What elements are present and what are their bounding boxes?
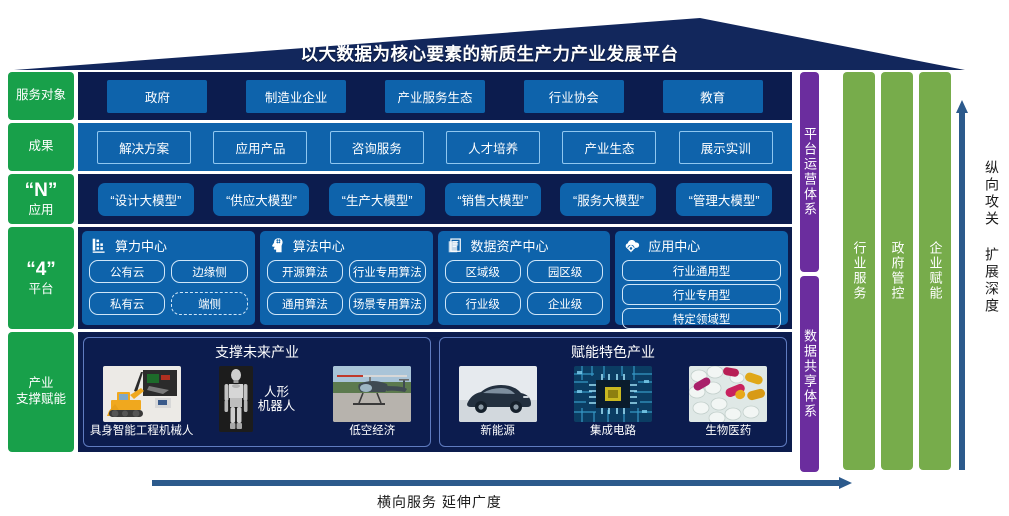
left-label-services[interactable]: 服务对象 bbox=[8, 72, 74, 120]
humanoid-robot-photo-svg bbox=[219, 366, 253, 432]
row-industry: 支撑未来产业 bbox=[78, 332, 792, 452]
industry-item-chip-caption: 集成电路 bbox=[590, 425, 636, 438]
panel-data-asset-center-header: 数据资产中心 bbox=[445, 236, 604, 255]
helicopter-photo-svg bbox=[333, 366, 411, 422]
chip-device-side[interactable]: 端侧 bbox=[171, 292, 247, 315]
result-item-solution[interactable]: 解决方案 bbox=[97, 131, 191, 164]
brain-gear-icon bbox=[269, 237, 286, 254]
app-item-supply-model[interactable]: “供应大模型” bbox=[213, 183, 309, 216]
chip-photo-svg bbox=[574, 366, 652, 422]
left-label-industry-line1: 产业 bbox=[16, 376, 66, 392]
industry-item-chip[interactable]: 集成电路 bbox=[559, 366, 666, 438]
panel-algorithm-center-title: 算法中心 bbox=[293, 236, 345, 255]
vertical-arrow-svg bbox=[955, 100, 969, 470]
left-label-applications[interactable]: “N” 应用 bbox=[8, 174, 74, 224]
panel-algorithm-center[interactable]: 算法中心 开源算法 行业专用算法 通用算法 场景专用算法 bbox=[260, 231, 433, 325]
chip-general-algorithm[interactable]: 通用算法 bbox=[267, 292, 343, 315]
industry-box-future-items: 具身智能工程机械人 bbox=[84, 366, 430, 446]
industry-item-biomedicine-caption: 生物医药 bbox=[705, 425, 751, 438]
panel-computing-center-chips: 公有云 边缘侧 私有云 端侧 bbox=[89, 260, 248, 319]
industry-box-featured-title: 赋能特色产业 bbox=[571, 342, 655, 362]
green-column-group: 行业服务 政府管控 企业赋能 bbox=[843, 72, 953, 470]
horizontal-arrow bbox=[152, 476, 852, 490]
left-label-column: 服务对象 成果 “N” 应用 “4” 平台 产业 支撑赋能 bbox=[8, 72, 74, 452]
chip-scenario-algorithm[interactable]: 场景专用算法 bbox=[349, 292, 425, 315]
app-item-design-model[interactable]: “设计大模型” bbox=[98, 183, 194, 216]
app-item-production-model[interactable]: “生产大模型” bbox=[329, 183, 425, 216]
chip-industry-level[interactable]: 行业级 bbox=[445, 292, 521, 315]
documents-icon bbox=[447, 237, 464, 254]
left-label-industry[interactable]: 产业 支撑赋能 bbox=[8, 332, 74, 452]
left-label-applications-sub: 应用 bbox=[25, 203, 58, 219]
horizontal-arrow-svg bbox=[152, 476, 852, 490]
row-results: 解决方案 应用产品 咨询服务 人才培养 产业生态 展示实训 bbox=[78, 123, 792, 171]
result-item-product[interactable]: 应用产品 bbox=[213, 131, 307, 164]
chip-industry-specific-type[interactable]: 行业专用型 bbox=[622, 284, 781, 305]
left-label-results[interactable]: 成果 bbox=[8, 123, 74, 171]
chip-photo bbox=[574, 366, 652, 422]
brain-gear-icon-svg bbox=[269, 237, 286, 254]
purple-bar-platform-operation[interactable]: 平台运营体系 bbox=[800, 72, 819, 272]
purple-bar-data-sharing[interactable]: 数据共享体系 bbox=[800, 276, 819, 472]
row-services: 政府 制造业企业 产业服务生态 行业协会 教育 bbox=[78, 72, 792, 120]
industry-box-future-title: 支撑未来产业 bbox=[215, 342, 299, 362]
row-platform: 算力中心 公有云 边缘侧 私有云 端侧 bbox=[78, 227, 792, 329]
industry-item-new-energy-caption: 新能源 bbox=[480, 425, 515, 438]
server-icon bbox=[91, 237, 108, 254]
main-rows: 政府 制造业企业 产业服务生态 行业协会 教育 解决方案 应用产品 咨询服务 人… bbox=[78, 72, 792, 455]
chip-industry-specific-algorithm[interactable]: 行业专用算法 bbox=[349, 260, 425, 283]
chip-enterprise-level[interactable]: 企业级 bbox=[527, 292, 603, 315]
chip-specific-domain-type[interactable]: 特定领域型 bbox=[622, 308, 781, 329]
chip-park-level[interactable]: 园区级 bbox=[527, 260, 603, 283]
panel-application-center[interactable]: 应用中心 行业通用型 行业专用型 特定领域型 bbox=[615, 231, 788, 325]
purple-column: 平台运营体系 数据共享体系 bbox=[800, 72, 834, 472]
industry-item-biomedicine[interactable]: 生物医药 bbox=[675, 366, 782, 438]
service-item-manufacturing[interactable]: 制造业企业 bbox=[246, 80, 346, 113]
server-icon-svg bbox=[91, 237, 108, 254]
row-applications: “设计大模型” “供应大模型” “生产大模型” “销售大模型” “服务大模型” … bbox=[78, 174, 792, 224]
horizontal-arrow-label-wrap: 横向服务 延伸广度 bbox=[0, 492, 1009, 512]
panel-data-asset-center-title: 数据资产中心 bbox=[471, 236, 549, 255]
chip-industry-general-type[interactable]: 行业通用型 bbox=[622, 260, 781, 281]
panel-application-center-header: 应用中心 bbox=[622, 236, 781, 255]
left-label-platform-sub: 平台 bbox=[26, 282, 56, 298]
electric-car-photo bbox=[459, 366, 537, 422]
chip-open-source-algorithm[interactable]: 开源算法 bbox=[267, 260, 343, 283]
chip-private-cloud[interactable]: 私有云 bbox=[89, 292, 165, 315]
horizontal-arrow-label: 横向服务 延伸广度 bbox=[377, 492, 502, 512]
service-item-association[interactable]: 行业协会 bbox=[524, 80, 624, 113]
page-title: 以大数据为核心要素的新质生产力产业发展平台 bbox=[14, 18, 965, 70]
documents-icon-svg bbox=[447, 237, 464, 254]
humanoid-robot-photo bbox=[219, 366, 253, 432]
left-label-platform[interactable]: “4” 平台 bbox=[8, 227, 74, 329]
green-bar-industry-service[interactable]: 行业服务 bbox=[843, 72, 875, 470]
panel-computing-center-header: 算力中心 bbox=[89, 236, 248, 255]
panel-computing-center[interactable]: 算力中心 公有云 边缘侧 私有云 端侧 bbox=[82, 231, 255, 325]
pills-photo bbox=[689, 366, 767, 422]
panel-algorithm-center-header: 算法中心 bbox=[267, 236, 426, 255]
app-item-management-model[interactable]: “管理大模型” bbox=[676, 183, 772, 216]
humanoid-robot-caption-line1: 人形 bbox=[258, 385, 296, 399]
helicopter-photo bbox=[333, 366, 411, 422]
panel-data-asset-center-chips: 区域级 园区级 行业级 企业级 bbox=[445, 260, 604, 319]
green-bar-government-control[interactable]: 政府管控 bbox=[881, 72, 913, 470]
chip-public-cloud[interactable]: 公有云 bbox=[89, 260, 165, 283]
industry-item-humanoid-robot-caption: 人形 机器人 bbox=[258, 385, 296, 414]
industry-item-helicopter-caption: 低空经济 bbox=[349, 425, 395, 438]
service-item-industry-ecosystem[interactable]: 产业服务生态 bbox=[385, 80, 485, 113]
cloud-gear-icon bbox=[624, 237, 641, 254]
pills-photo-svg bbox=[689, 366, 767, 422]
vertical-arrow-label: 纵向攻关 扩展深度 bbox=[972, 160, 1002, 315]
industry-box-future: 支撑未来产业 bbox=[83, 337, 431, 447]
panel-computing-center-title: 算力中心 bbox=[115, 236, 167, 255]
left-label-applications-n: “N” bbox=[25, 179, 58, 203]
industry-item-humanoid-robot[interactable]: 人形 机器人 bbox=[203, 366, 310, 432]
industry-item-excavator[interactable]: 具身智能工程机械人 bbox=[88, 366, 195, 438]
diagram-canvas: 以大数据为核心要素的新质生产力产业发展平台 服务对象 成果 “N” 应用 “4”… bbox=[0, 0, 1009, 516]
electric-car-photo-svg bbox=[459, 366, 537, 422]
industry-item-helicopter[interactable]: 低空经济 bbox=[319, 366, 426, 438]
panel-algorithm-center-chips: 开源算法 行业专用算法 通用算法 场景专用算法 bbox=[267, 260, 426, 319]
vertical-arrow bbox=[955, 100, 969, 470]
humanoid-robot-caption-line2: 机器人 bbox=[258, 399, 296, 413]
result-item-consulting[interactable]: 咨询服务 bbox=[330, 131, 424, 164]
left-label-results-text: 成果 bbox=[28, 139, 53, 155]
service-item-government[interactable]: 政府 bbox=[107, 80, 207, 113]
excavator-photo-svg bbox=[103, 366, 181, 422]
excavator-photo bbox=[103, 366, 181, 422]
left-label-platform-4: “4” bbox=[26, 258, 56, 282]
green-bar-enterprise-empowerment[interactable]: 企业赋能 bbox=[919, 72, 951, 470]
chip-edge-side[interactable]: 边缘侧 bbox=[171, 260, 247, 283]
panel-application-center-title: 应用中心 bbox=[648, 236, 700, 255]
cloud-gear-icon-svg bbox=[624, 237, 641, 254]
left-label-industry-line2: 支撑赋能 bbox=[16, 392, 66, 408]
service-item-education[interactable]: 教育 bbox=[663, 80, 763, 113]
left-label-services-text: 服务对象 bbox=[16, 88, 66, 104]
result-item-ecosystem[interactable]: 产业生态 bbox=[562, 131, 656, 164]
result-item-training[interactable]: 展示实训 bbox=[679, 131, 773, 164]
industry-box-featured-items: 新能源 bbox=[440, 366, 786, 446]
app-item-service-model[interactable]: “服务大模型” bbox=[560, 183, 656, 216]
result-item-talent[interactable]: 人才培养 bbox=[446, 131, 540, 164]
panel-data-asset-center[interactable]: 数据资产中心 区域级 园区级 行业级 企业级 bbox=[438, 231, 611, 325]
industry-item-excavator-caption: 具身智能工程机械人 bbox=[90, 425, 194, 438]
industry-item-new-energy[interactable]: 新能源 bbox=[444, 366, 551, 438]
chip-regional-level[interactable]: 区域级 bbox=[445, 260, 521, 283]
industry-box-featured: 赋能特色产业 bbox=[439, 337, 787, 447]
app-item-sales-model[interactable]: “销售大模型” bbox=[445, 183, 541, 216]
panel-application-center-chips: 行业通用型 行业专用型 特定领域型 bbox=[622, 260, 781, 329]
roof-banner: 以大数据为核心要素的新质生产力产业发展平台 bbox=[14, 18, 965, 70]
